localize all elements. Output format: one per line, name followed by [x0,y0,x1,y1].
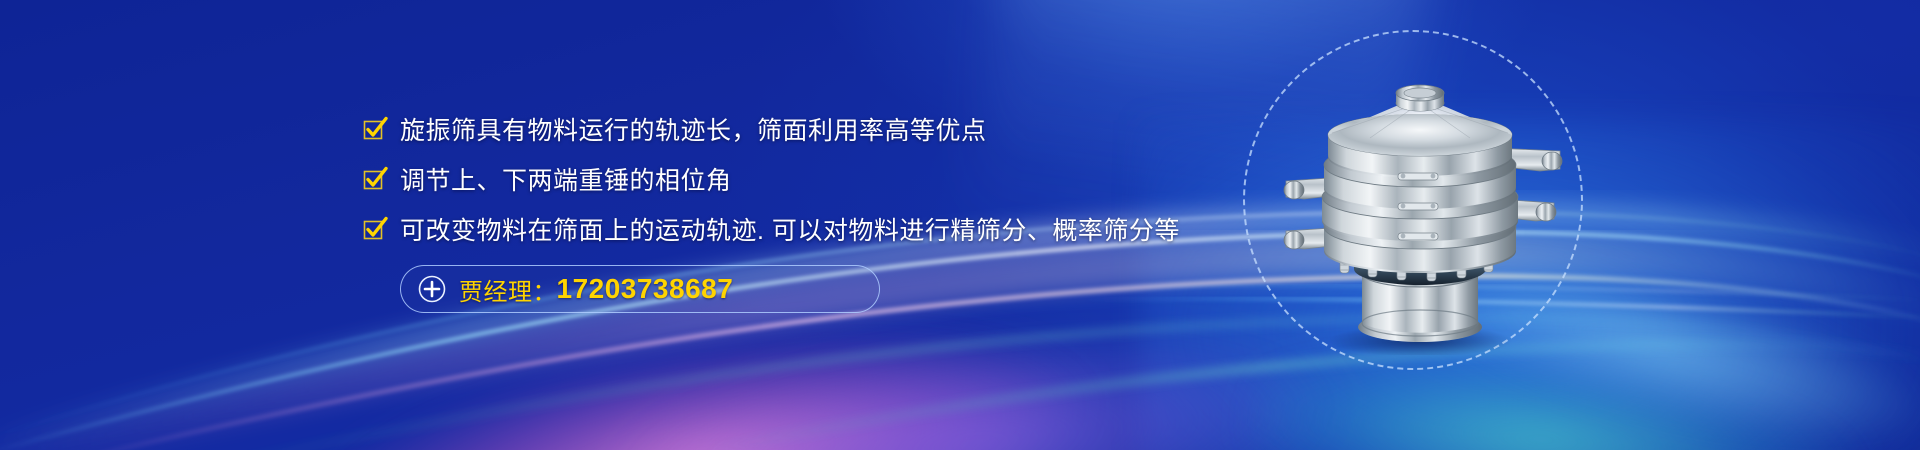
list-item: 调节上、下两端重锤的相位角 [362,162,1122,196]
contact-phone-number[interactable]: 17203738687 [557,273,734,305]
contact-button[interactable]: 贾经理 ： 17203738687 [400,265,880,313]
list-item: 旋振筛具有物料运行的轨迹长，筛面利用率高等优点 [362,112,1122,146]
check-box-icon [362,166,388,192]
check-box-icon [362,116,388,142]
contact-name: 贾经理 [459,272,533,307]
list-item: 可改变物料在筛面上的运动轨迹. 可以对物料进行精筛分、概率筛分等 [362,212,1122,246]
rotary-vibrating-screen-image [1270,55,1570,355]
contact-separator: ： [533,272,557,307]
bullet-text: 调节上、下两端重锤的相位角 [400,161,732,197]
bullet-text: 旋振筛具有物料运行的轨迹长，筛面利用率高等优点 [400,111,987,147]
check-box-icon [362,216,388,242]
bullet-text: 可改变物料在筛面上的运动轨迹. 可以对物料进行精筛分、概率筛分等 [400,211,1180,247]
promo-banner: 旋振筛具有物料运行的轨迹长，筛面利用率高等优点 调节上、下两端重锤的相位角 可改… [0,0,1920,450]
plus-circle-icon [417,274,447,304]
bullet-list: 旋振筛具有物料运行的轨迹长，筛面利用率高等优点 调节上、下两端重锤的相位角 可改… [362,112,1122,262]
